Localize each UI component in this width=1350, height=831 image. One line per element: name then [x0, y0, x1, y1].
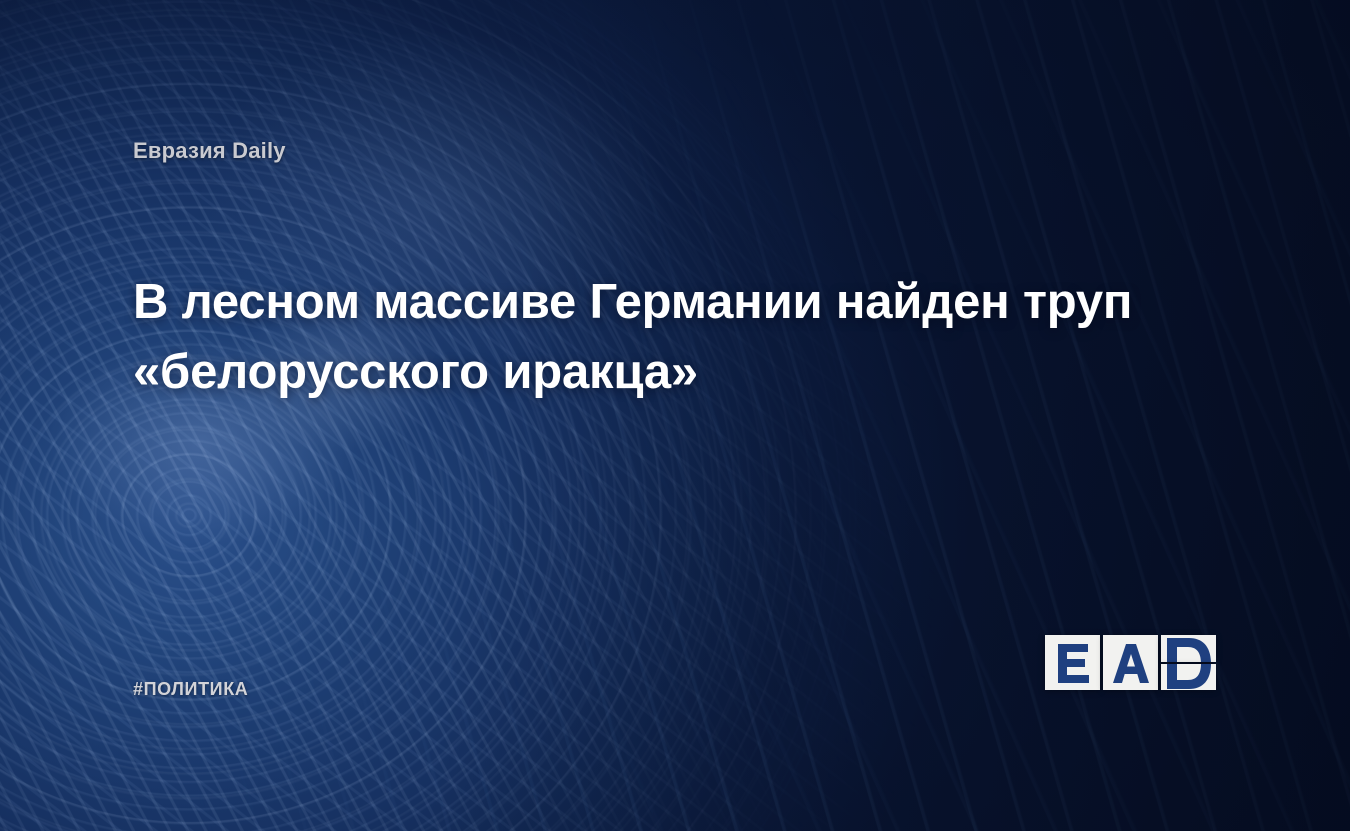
ead-logo-tile-d-split: [1161, 635, 1216, 690]
category-hashtag: #ПОЛИТИКА: [133, 679, 248, 700]
ead-logo-tile-d-bottom: [1161, 664, 1216, 691]
news-share-card: Евразия Daily В лесном массиве Германии …: [0, 0, 1350, 831]
ead-logo-tile-e: [1045, 635, 1100, 690]
ead-logo-mark: [1045, 635, 1216, 690]
background-vignette: [0, 0, 1350, 831]
ead-logo-tile-a: [1103, 635, 1158, 690]
article-headline: В лесном массиве Германии найден труп «б…: [133, 268, 1143, 407]
site-logo-text: Евразия Daily: [133, 138, 286, 164]
ead-logo-tile-d-top: [1161, 635, 1216, 662]
